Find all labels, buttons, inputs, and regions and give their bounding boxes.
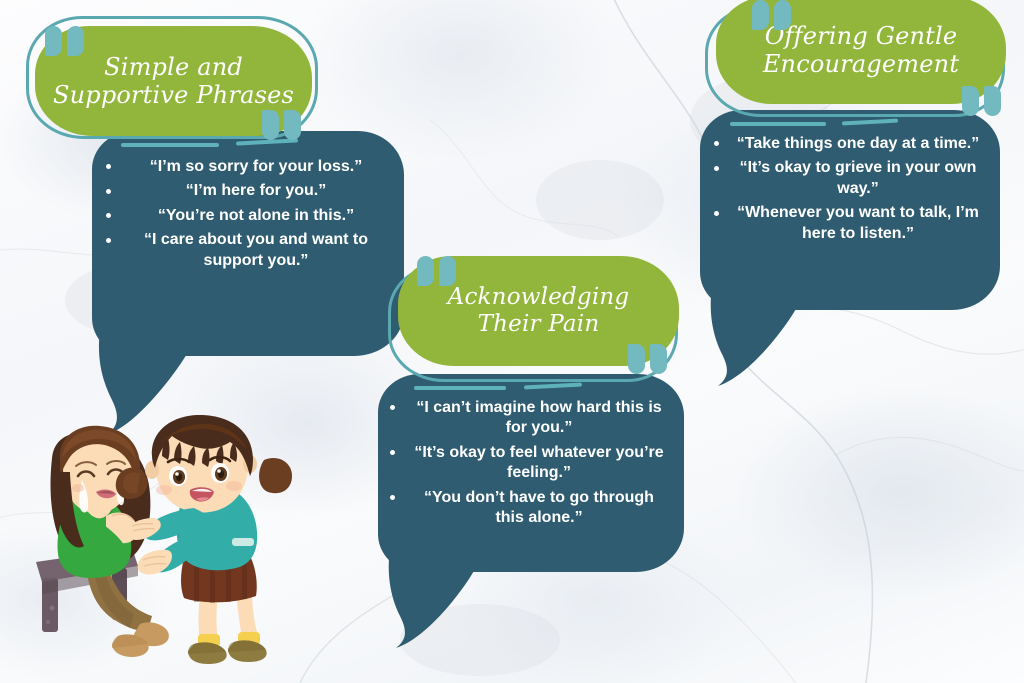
bubble-acknowledging-pain: “I can’t imagine how hard this is for yo… — [378, 374, 684, 572]
bullet-dot — [106, 189, 111, 194]
bubble-dash-left-acknowledging — [414, 386, 506, 390]
bubble-dash-right-acknowledging — [524, 382, 582, 389]
quote-close-icon-offering — [962, 86, 1001, 116]
list-item: “You don’t have to go through this alone… — [390, 488, 672, 529]
phrase-list-simple-supportive: “I’m so sorry for your loss.” “I’m here … — [92, 157, 404, 271]
card-offering-encouragement: “Take things one day at a time.” “It’s o… — [684, 0, 1024, 400]
phrase-text: “I can’t imagine how hard this is for yo… — [390, 398, 672, 439]
phrase-text: “I’m here for you.” — [106, 181, 390, 201]
list-item: “Take things one day at a time.” — [714, 134, 986, 154]
card-simple-supportive: “I’m so sorry for your loss.” “I’m here … — [0, 0, 430, 420]
phrase-text: “It’s okay to feel whatever you’re feeli… — [390, 443, 672, 484]
infographic-poster: “I’m so sorry for your loss.” “I’m here … — [0, 0, 1024, 683]
phrase-list-acknowledging-pain: “I can’t imagine how hard this is for yo… — [378, 398, 684, 529]
phrase-text: “It’s okay to grieve in your own way.” — [714, 158, 986, 199]
quote-close-icon-simple — [262, 110, 301, 140]
bubble-dash-left-simple — [121, 143, 219, 147]
bullet-dot — [106, 238, 111, 243]
card-acknowledging-pain: “I can’t imagine how hard this is for yo… — [370, 244, 710, 644]
quote-close-icon-acknowledging — [628, 344, 667, 374]
list-item: “Whenever you want to talk, I’m here to … — [714, 203, 986, 244]
quote-open-icon-acknowledging — [417, 256, 456, 286]
list-item: “I care about you and want to support yo… — [106, 230, 390, 271]
bubble-simple-supportive: “I’m so sorry for your loss.” “I’m here … — [92, 131, 404, 356]
quote-open-icon-simple — [45, 26, 84, 56]
bubble-dash-left-offering — [730, 122, 826, 126]
bullet-dot — [714, 166, 719, 171]
bubble-tail-offering — [702, 280, 1002, 390]
bullet-dot — [714, 211, 719, 216]
quote-open-icon-offering — [752, 0, 791, 30]
list-item: “You’re not alone in this.” — [106, 206, 390, 226]
phrase-text: “I’m so sorry for your loss.” — [106, 157, 390, 177]
phrase-text: “You don’t have to go through this alone… — [390, 488, 672, 529]
phrase-text: “You’re not alone in this.” — [106, 206, 390, 226]
phrase-list-offering-encouragement: “Take things one day at a time.” “It’s o… — [700, 134, 1000, 244]
list-item: “It’s okay to grieve in your own way.” — [714, 158, 986, 199]
list-item: “I’m so sorry for your loss.” — [106, 157, 390, 177]
phrase-text: “Take things one day at a time.” — [714, 134, 986, 154]
phrase-text: “Whenever you want to talk, I’m here to … — [714, 203, 986, 244]
illustration-two-girls-comforting — [34, 398, 326, 666]
bubble-offering-encouragement: “Take things one day at a time.” “It’s o… — [700, 110, 1000, 310]
header-title: Simple and Supportive Phrases — [35, 53, 312, 110]
header-title: Offering Gentle Encouragement — [716, 22, 1006, 79]
list-item: “I’m here for you.” — [106, 181, 390, 201]
bubble-tail-acknowledging — [380, 542, 686, 652]
phrase-text: “I care about you and want to support yo… — [106, 230, 390, 271]
girl-crying — [51, 426, 169, 657]
list-item: “I can’t imagine how hard this is for yo… — [390, 398, 672, 439]
list-item: “It’s okay to feel whatever you’re feeli… — [390, 443, 672, 484]
header-title: Acknowledging Their Pain — [398, 284, 679, 338]
bubble-dash-right-offering — [842, 119, 898, 126]
